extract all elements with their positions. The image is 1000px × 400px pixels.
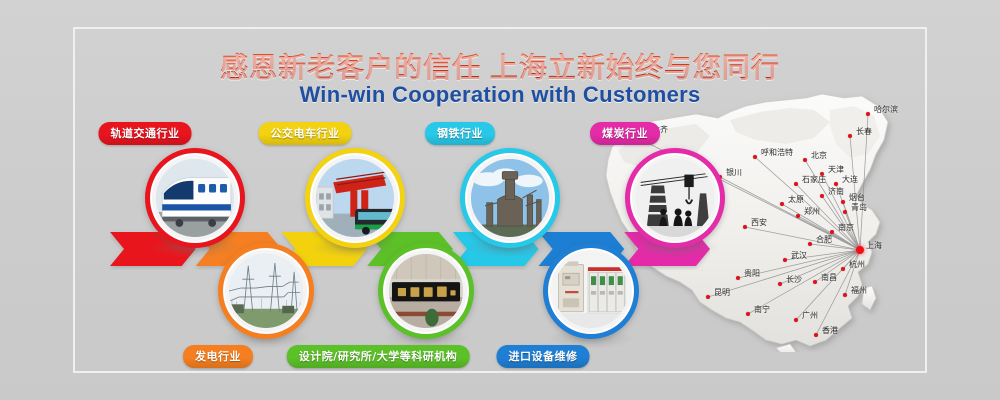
power-transmission-towers-photo [229, 254, 303, 328]
industry-circle-2[interactable] [305, 148, 405, 248]
map-city-label: 广州 [802, 310, 818, 321]
map-city-label: 呼和浩特 [761, 147, 793, 158]
map-city-label: 石家庄 [802, 174, 826, 185]
page-subtitle-english: Win-win Cooperation with Customers [0, 82, 1000, 108]
map-city-label: 杭州 [849, 259, 865, 270]
industry-label-pill[interactable]: 公交电车行业 [259, 122, 352, 145]
page-title-chinese: 感恩新老客户的信任 上海立新始终与您同行 [0, 46, 1000, 86]
industry-label-pill[interactable]: 轨道交通行业 [99, 122, 192, 145]
map-hub-dot [856, 246, 864, 254]
map-city-dot [803, 158, 807, 162]
map-city-label: 香港 [822, 325, 838, 336]
promotional-banner: 哈尔滨长春大连烟台北京天津呼和浩特石家庄济南青岛银川太原乌鲁木齐郑州西安南京合肥… [0, 0, 1000, 400]
university-sign-photo [389, 254, 463, 328]
map-city-dot [783, 258, 787, 262]
map-city-label: 长春 [856, 126, 872, 137]
map-city-dot [866, 112, 870, 116]
map-city-dot [841, 200, 845, 204]
industry-label-pill[interactable]: 设计院/研究所/大学等科研机构 [287, 345, 470, 368]
switchgear-cabinets-photo [554, 254, 628, 328]
china-pavilion-bus-photo [316, 159, 394, 237]
map-city-label: 南昌 [821, 272, 837, 283]
map-city-dot [794, 182, 798, 186]
map-city-label: 北京 [811, 150, 827, 161]
map-city-label: 长沙 [786, 274, 802, 285]
industry-circle-3[interactable] [543, 243, 639, 339]
map-city-label: 合肥 [816, 234, 832, 245]
industry-label-pill[interactable]: 发电行业 [183, 345, 253, 368]
map-city-dot [843, 210, 847, 214]
industry-circle-4[interactable] [625, 148, 725, 248]
industry-circle-1[interactable] [218, 243, 314, 339]
map-city-dot [820, 194, 824, 198]
map-city-dot [814, 333, 818, 337]
map-city-label: 大连 [842, 174, 858, 185]
map-city-dot [796, 214, 800, 218]
map-city-label: 贵阳 [744, 268, 760, 279]
map-city-dot [843, 293, 847, 297]
map-city-label: 郑州 [804, 206, 820, 217]
map-city-dot [813, 280, 817, 284]
map-city-label: 福州 [851, 285, 867, 296]
map-city-label: 南宁 [754, 304, 770, 315]
industry-label-pill[interactable]: 钢铁行业 [425, 122, 495, 145]
map-city-dot [794, 318, 798, 322]
map-city-dot [808, 242, 812, 246]
map-city-label: 青岛 [851, 202, 867, 213]
map-city-label: 西安 [751, 217, 767, 228]
map-city-label: 上海 [866, 240, 882, 251]
steel-blast-furnace-photo [471, 159, 549, 237]
map-city-label: 昆明 [714, 287, 730, 298]
map-city-dot [841, 267, 845, 271]
industry-circle-1[interactable] [145, 148, 245, 248]
high-speed-train-photo [156, 159, 234, 237]
map-city-label: 南京 [838, 222, 854, 233]
map-city-label: 天津 [828, 164, 844, 175]
industry-circle-2[interactable] [378, 243, 474, 339]
industry-label-pill[interactable]: 进口设备维修 [497, 345, 590, 368]
map-city-dot [746, 312, 750, 316]
map-city-dot [753, 155, 757, 159]
map-city-label: 太原 [788, 194, 804, 205]
map-city-label: 武汉 [791, 250, 807, 261]
map-city-label: 银川 [726, 167, 742, 178]
coal-drilling-rig-photo [636, 159, 714, 237]
map-city-dot [706, 295, 710, 299]
map-city-label: 济南 [828, 186, 844, 197]
industry-circle-3[interactable] [460, 148, 560, 248]
map-city-dot [736, 276, 740, 280]
map-city-dot [780, 202, 784, 206]
map-city-dot [743, 225, 747, 229]
industry-label-pill[interactable]: 煤炭行业 [590, 122, 660, 145]
map-city-dot [778, 282, 782, 286]
map-city-dot [848, 134, 852, 138]
